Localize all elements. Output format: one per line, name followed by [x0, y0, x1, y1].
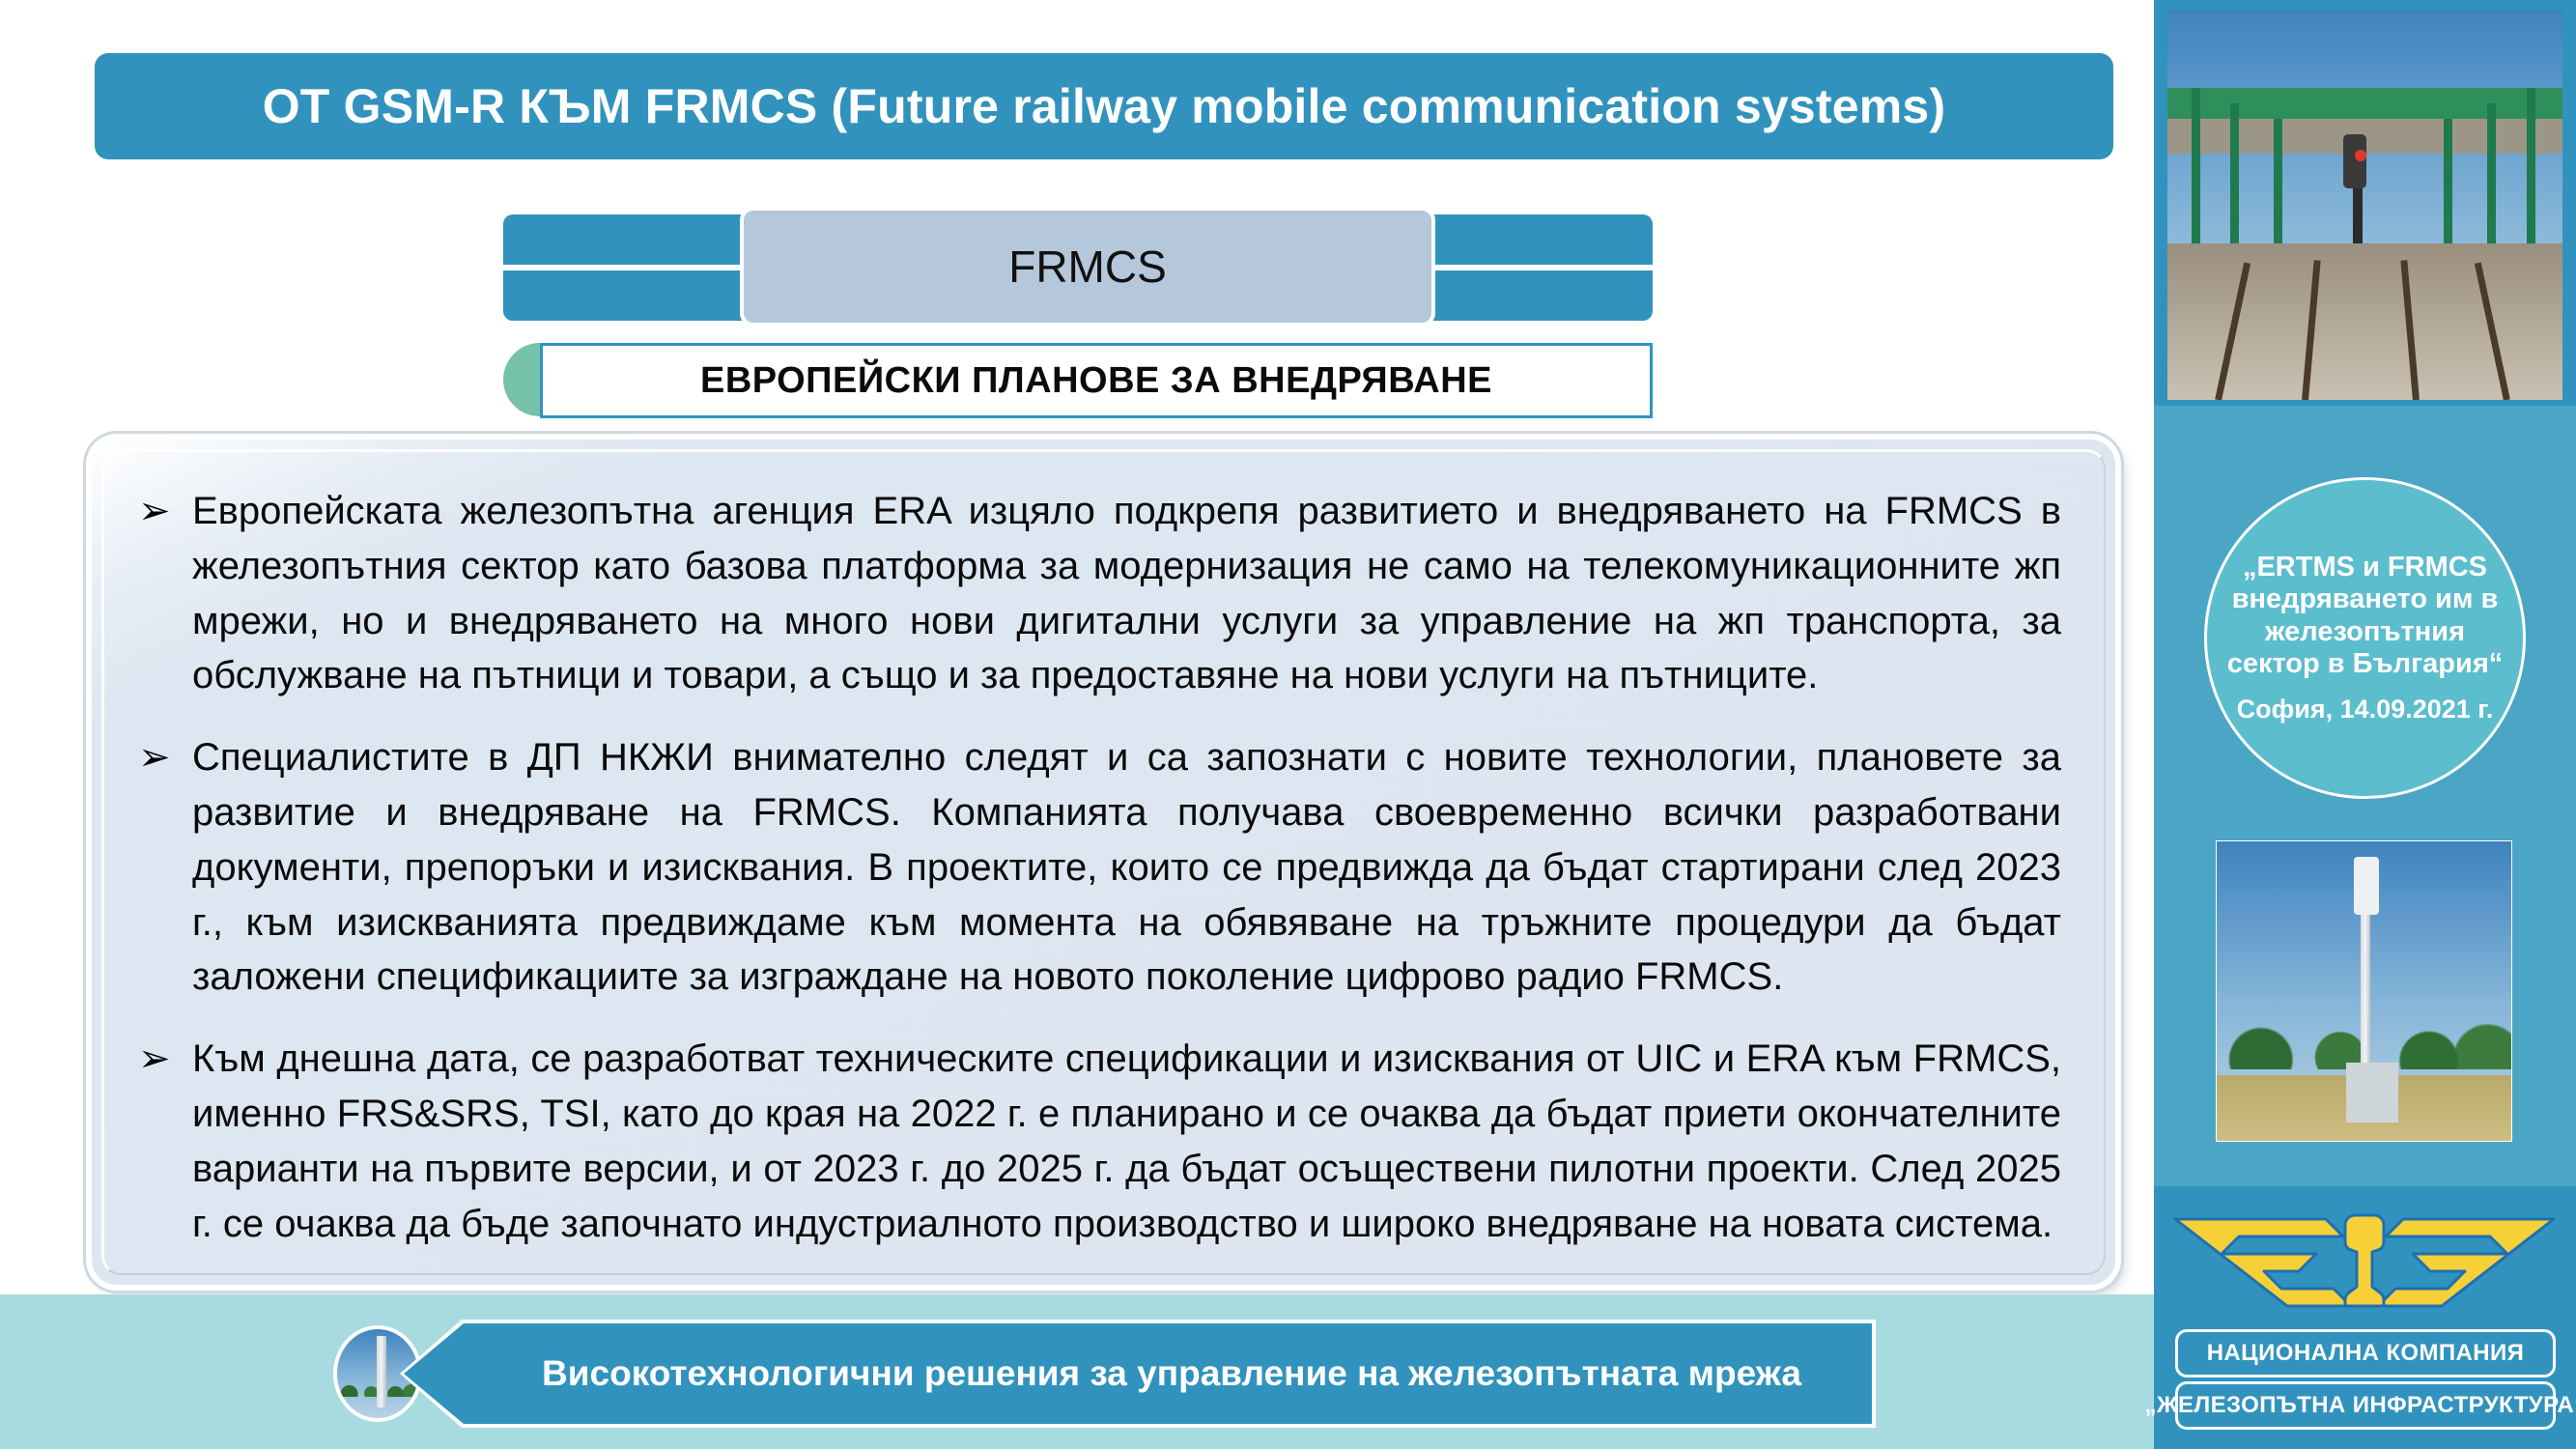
footer-strip: Високотехнологични решения за управление… [0, 1294, 2154, 1449]
right-sidebar: „ERTMS и FRMCS внедряването им в железоп… [2154, 0, 2576, 1449]
frmcs-banner: FRMCS [503, 214, 1653, 321]
event-title-line-3: железопътния [2265, 616, 2465, 649]
frmcs-chip-label: FRMCS [1008, 241, 1167, 293]
content-panel: ➢ Европейската железопътна агенция ERA и… [92, 440, 2115, 1285]
bullet-text: Специалистите в ДП НКЖИ внимателно следя… [192, 730, 2061, 1005]
bullet-item: ➢ Към днешна дата, се разработват технич… [138, 1032, 2061, 1251]
slide-title-bar: ОТ GSM-R КЪМ FRMCS (Future railway mobil… [95, 53, 2113, 159]
logo-text-2: „ЖЕЛЕЗОПЪТНА ИНФРАСТРУКТУРА“ [2144, 1392, 2576, 1419]
catenary-mast [2527, 88, 2535, 268]
antenna-head [2354, 857, 2379, 915]
european-plans-banner: ЕВРОПЕЙСКИ ПЛАНОВЕ ЗА ВНЕДРЯВАНЕ [503, 343, 1653, 420]
bullet-text: Европейската железопътна агенция ERA изц… [192, 484, 2061, 703]
catenary-mast [2487, 103, 2496, 268]
arrow-bullet-icon: ➢ [138, 484, 192, 537]
sidebar-mid-section: „ERTMS и FRMCS внедряването им в железоп… [2154, 406, 2576, 1188]
signal-head [2343, 134, 2366, 188]
plans-box: ЕВРОПЕЙСКИ ПЛАНОВЕ ЗА ВНЕДРЯВАНЕ [540, 343, 1653, 418]
logo-name-line-1: НАЦИОНАЛНА КОМПАНИЯ [2175, 1329, 2556, 1378]
event-title-line-4: сектор в България“ [2227, 648, 2504, 681]
catenary-mast [2192, 88, 2200, 268]
equipment-cabinet [2346, 1063, 2398, 1122]
event-title-line-2: внедряването им в [2232, 583, 2499, 616]
logo-name-line-2: „ЖЕЛЕЗОПЪТНА ИНФРАСТРУКТУРА“ [2175, 1381, 2556, 1430]
bullet-text: Към днешна дата, се разработват техничес… [192, 1032, 2061, 1251]
mast-pole [377, 1336, 386, 1407]
event-title-line-1: „ERTMS и FRMCS [2243, 552, 2487, 584]
frmcs-chip: FRMCS [740, 207, 1435, 327]
footer-text: Високотехнологични решения за управление… [542, 1353, 1801, 1394]
arrow-bullet-icon: ➢ [138, 730, 192, 783]
plans-label: ЕВРОПЕЙСКИ ПЛАНОВЕ ЗА ВНЕДРЯВАНЕ [700, 360, 1492, 402]
catenary-mast [2230, 103, 2239, 268]
event-date: София, 14.09.2021 г. [2237, 695, 2494, 724]
bridge-railing [2167, 88, 2562, 119]
slide-root: ОТ GSM-R КЪМ FRMCS (Future railway mobil… [0, 0, 2576, 1449]
logo-text-1: НАЦИОНАЛНА КОМПАНИЯ [2207, 1340, 2525, 1367]
winged-rail-emblem-icon [2171, 1209, 2558, 1312]
footer-banner: Високотехнологични решения за управление… [404, 1323, 1872, 1424]
company-logo-block: НАЦИОНАЛНА КОМПАНИЯ „ЖЕЛЕЗОПЪТНА ИНФРАСТ… [2154, 1186, 2576, 1449]
page-title: ОТ GSM-R КЪМ FRMCS (Future railway mobil… [263, 81, 1946, 132]
railway-tracks-photo [2167, 10, 2562, 400]
bullet-item: ➢ Европейската железопътна агенция ERA и… [138, 484, 2061, 703]
arrow-bullet-icon: ➢ [138, 1032, 192, 1085]
event-title-circle: „ERTMS и FRMCS внедряването им в железоп… [2204, 477, 2526, 799]
gsm-r-mast-photo [2216, 840, 2512, 1142]
bullet-item: ➢ Специалистите в ДП НКЖИ внимателно сле… [138, 730, 2061, 1005]
